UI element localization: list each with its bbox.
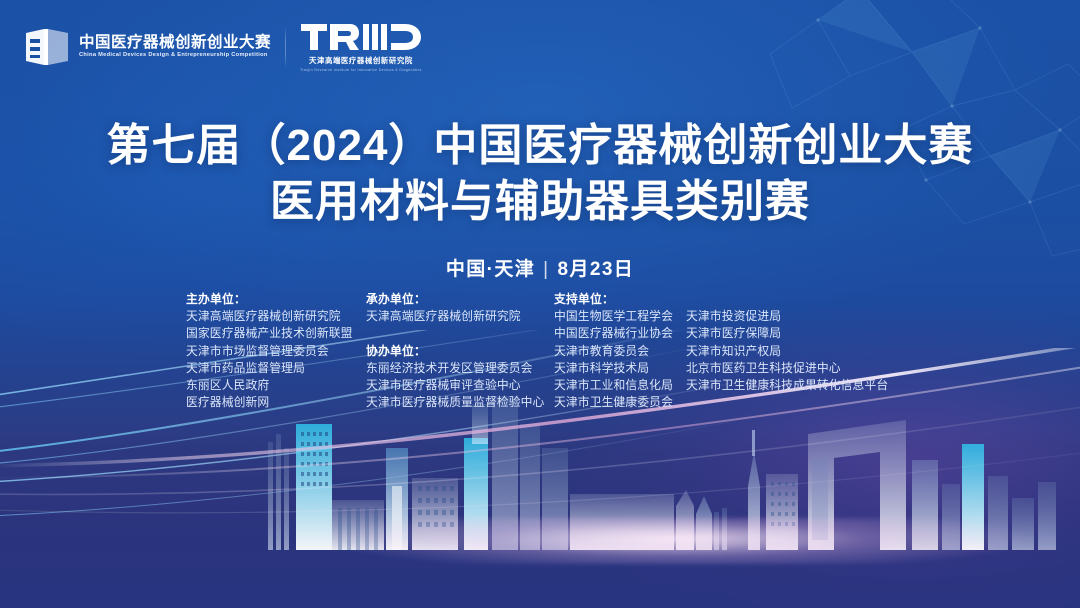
org-item: 天津高端医疗器械创新研究院 — [186, 308, 366, 325]
org-column-host: 主办单位： 天津高端医疗器械创新研究院 国家医疗器械产业技术创新联盟 天津市市场… — [186, 291, 366, 411]
date-separator: | — [543, 259, 549, 281]
org-subcolumn-left: 支持单位： 中国生物医学工程学会 中国医疗器械行业协会 天津市教育委员会 天津市… — [554, 291, 686, 411]
organizations-block: 主办单位： 天津高端医疗器械创新研究院 国家医疗器械产业技术创新联盟 天津市市场… — [186, 291, 896, 411]
logo-triid-english: Tianjin Research Institute for Innovativ… — [300, 68, 422, 72]
logo-cmdc-chinese: 中国医疗器械创新创业大赛 — [79, 34, 271, 51]
logo-cmdc: 中国医疗器械创新创业大赛 China Medical Devices Desig… — [24, 27, 271, 67]
org-item: 天津市知识产权局 — [686, 343, 896, 360]
org-item: 天津市科学技术局 — [554, 360, 686, 377]
org-item: 天津市医疗保障局 — [686, 325, 896, 342]
org-item: 北京市医药卫生科技促进中心 — [686, 360, 896, 377]
org-item: 天津市卫生健康科技成果转化信息平台 — [686, 377, 896, 394]
org-item: 天津市市场监督管理委员会 — [186, 343, 366, 360]
event-date-location: 中国·天津|8月23日 — [0, 254, 1080, 281]
event-poster: 中国医疗器械创新创业大赛 China Medical Devices Desig… — [0, 0, 1080, 608]
org-column-supporters: 支持单位： 中国生物医学工程学会 中国医疗器械行业协会 天津市教育委员会 天津市… — [554, 291, 896, 411]
open-book-logo-icon — [24, 27, 70, 67]
title-line-1: 第七届（2024）中国医疗器械创新创业大赛 — [0, 118, 1080, 174]
org-heading: 协办单位： — [366, 343, 554, 360]
org-heading: 支持单位： — [554, 291, 686, 308]
org-item: 天津市医疗器械质量监督检验中心 — [366, 394, 554, 411]
org-item: 天津市投资促进局 — [686, 308, 896, 325]
logo-triid-chinese: 天津高端医疗器械创新研究院 — [309, 55, 413, 66]
poster-title: 第七届（2024）中国医疗器械创新创业大赛 医用材料与辅助器具类别赛 — [0, 118, 1080, 231]
org-item: 医疗器械创新网 — [186, 394, 366, 411]
event-date: 8月23日 — [557, 259, 634, 280]
org-subcolumn-right: 天津市投资促进局 天津市医疗保障局 天津市知识产权局 北京市医药卫生科技促进中心… — [686, 291, 896, 411]
header-logos: 中国医疗器械创新创业大赛 China Medical Devices Desig… — [24, 22, 422, 72]
org-spacer — [366, 325, 554, 342]
title-line-2: 医用材料与辅助器具类别赛 — [0, 174, 1080, 230]
org-heading: 主办单位： — [186, 291, 366, 308]
org-item: 天津市药品监督管理局 — [186, 360, 366, 377]
org-item: 中国生物医学工程学会 — [554, 308, 686, 325]
triid-wordmark-icon — [301, 22, 421, 52]
org-item: 天津市教育委员会 — [554, 343, 686, 360]
org-item: 天津市工业和信息化局 — [554, 377, 686, 394]
logo-triid: 天津高端医疗器械创新研究院 Tianjin Research Institute… — [300, 22, 422, 72]
org-column-organizer: 承办单位： 天津高端医疗器械创新研究院 协办单位： 东丽经济技术开发区管理委员会… — [366, 291, 554, 411]
org-item: 东丽区人民政府 — [186, 377, 366, 394]
org-spacer — [686, 291, 896, 308]
org-item: 东丽经济技术开发区管理委员会 — [366, 360, 554, 377]
logo-divider — [285, 26, 286, 68]
org-item: 天津市卫生健康委员会 — [554, 394, 686, 411]
event-location: 中国·天津 — [446, 259, 535, 280]
org-heading: 承办单位： — [366, 291, 554, 308]
org-item: 中国医疗器械行业协会 — [554, 325, 686, 342]
logo-cmdc-english: China Medical Devices Design & Entrepren… — [79, 51, 275, 59]
org-item: 天津市医疗器械审评查验中心 — [366, 377, 554, 394]
org-item: 国家医疗器械产业技术创新联盟 — [186, 325, 366, 342]
org-item: 天津高端医疗器械创新研究院 — [366, 308, 554, 325]
